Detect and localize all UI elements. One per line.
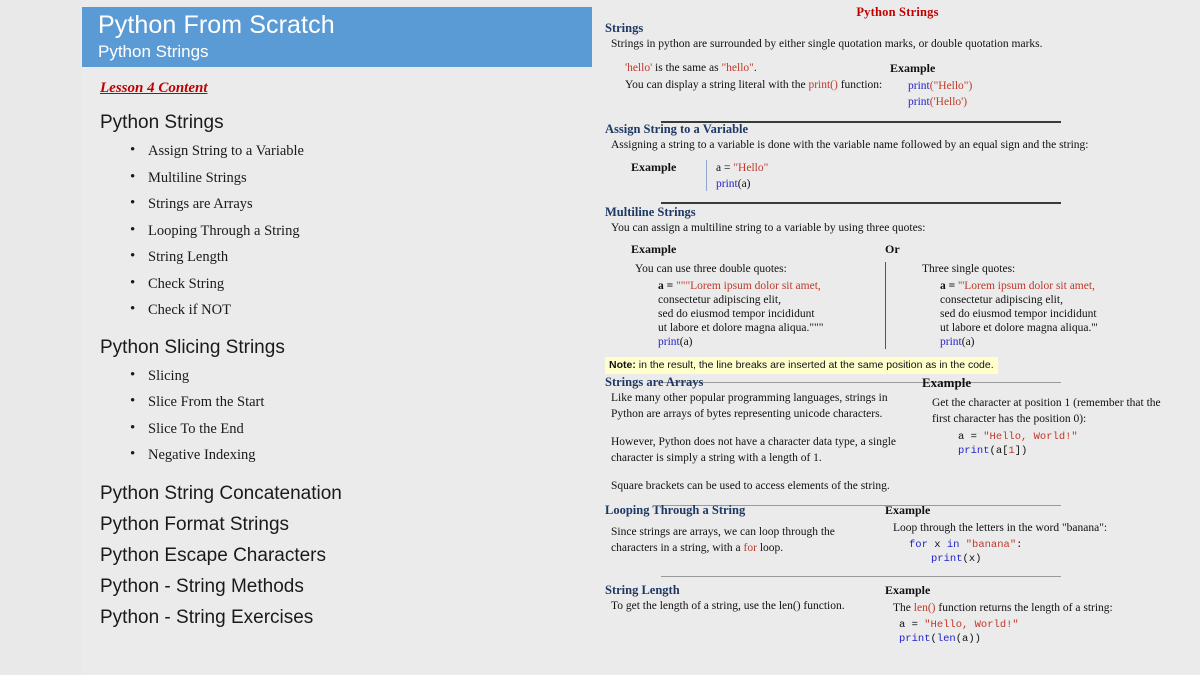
code-arg: (a)	[962, 336, 975, 348]
code-block: a = '''Lorem ipsum dolor sit amet, conse…	[922, 279, 1098, 349]
section-strings: Strings Strings in python are surrounded…	[595, 21, 1200, 123]
toc-heading[interactable]: Python String Concatenation	[82, 478, 592, 509]
section-intro: You can assign a multiline string to a v…	[595, 221, 1200, 236]
code-var: a =	[899, 619, 924, 631]
example-caption: The len() function returns the length of…	[885, 601, 1180, 616]
section-arrays: Strings are Arrays Like many other popul…	[595, 375, 1200, 506]
inline-text: You can display a string literal with th…	[625, 79, 808, 91]
inline-code-hello-double: "hello"	[721, 62, 753, 74]
example-label: Example	[885, 503, 1180, 518]
note-label: Note:	[609, 359, 636, 371]
code-var: x	[928, 539, 947, 551]
code-line: print('Hello')	[908, 95, 1120, 109]
multiline-left: You can use three double quotes: a = """…	[595, 262, 885, 350]
paragraph: Since strings are arrays, we can loop th…	[595, 525, 880, 556]
code-block: a = "Hello" print(a)	[706, 160, 768, 191]
example-label: Example	[885, 583, 1180, 598]
code-fn: print	[899, 633, 931, 645]
code-arg: (a))	[956, 633, 981, 645]
code-kw: for	[909, 539, 928, 551]
list-item[interactable]: String Length	[130, 244, 592, 271]
inline-text: loop.	[757, 542, 783, 554]
list-item[interactable]: Slice To the End	[130, 416, 592, 443]
table-of-contents: Python Strings Assign String to a Variab…	[82, 108, 592, 633]
spacer	[82, 469, 592, 478]
code-fn: print	[716, 178, 738, 190]
inline-text: function returns the length of a string:	[935, 602, 1112, 614]
code-fn: print	[931, 553, 963, 565]
example-label: Example	[595, 242, 885, 257]
code-caption: Three single quotes:	[922, 262, 1098, 277]
note-text: in the result, the line breaks are inser…	[636, 359, 994, 371]
spacer	[82, 324, 592, 333]
inline-text: The	[893, 602, 914, 614]
lesson-label: Lesson 4 Content	[100, 80, 208, 97]
code-line: a = "Hello, World!"	[958, 430, 1180, 444]
inline-code-hello-single: 'hello'	[625, 62, 652, 74]
section-divider	[661, 202, 1061, 204]
code-fn: print	[908, 96, 930, 108]
list-item[interactable]: Looping Through a String	[130, 218, 592, 245]
toc-heading[interactable]: Python - String Exercises	[82, 602, 592, 633]
section-multiline: Multiline Strings You can assign a multi…	[595, 205, 1200, 383]
multiline-right: Three single quotes: a = '''Lorem ipsum …	[885, 262, 1098, 350]
paragraph: Like many other popular programming lang…	[595, 391, 915, 422]
inline-code-len: len()	[914, 602, 936, 614]
list-item[interactable]: Check String	[130, 271, 592, 298]
code-line: print("Hello")	[908, 79, 1120, 93]
code-block: a = "Hello, World!" print(a[1])	[922, 430, 1180, 458]
toc-list: Slicing Slice From the Start Slice To th…	[82, 363, 592, 469]
toc-heading[interactable]: Python Slicing Strings	[82, 333, 592, 363]
document-panel: Python Strings Strings Strings in python…	[595, 0, 1200, 675]
code-line: consectetur adipiscing elit,	[658, 293, 885, 307]
example-label: Example	[922, 375, 1180, 391]
section-heading: Multiline Strings	[595, 205, 1200, 221]
toc-heading[interactable]: Python Format Strings	[82, 509, 592, 540]
code-fn: print	[658, 336, 680, 348]
code-arg: ("Hello")	[930, 80, 973, 92]
example-label: Example	[890, 61, 1120, 76]
code-line: ut labore et dolore magna aliqua.'''	[940, 321, 1098, 335]
code-var: a =	[658, 280, 676, 292]
toc-list: Assign String to a Variable Multiline St…	[82, 138, 592, 324]
code-line: a = """Lorem ipsum dolor sit amet,	[658, 279, 885, 293]
left-gutter	[0, 0, 82, 675]
section-intro: To get the length of a string, use the l…	[595, 599, 880, 614]
section-heading: Looping Through a String	[595, 503, 880, 519]
code-block: a = "Hello, World!" print(len(a))	[885, 618, 1180, 646]
section-heading: Assign String to a Variable	[595, 122, 1200, 138]
section-divider	[661, 576, 1061, 577]
code-var: a =	[940, 280, 958, 292]
code-kw: in	[947, 539, 960, 551]
code-str: "Hello, World!"	[983, 431, 1078, 443]
example-caption: Loop through the letters in the word "ba…	[885, 521, 1180, 536]
section-intro: Assigning a string to a variable is done…	[595, 138, 1200, 153]
code-arg: (x)	[963, 553, 982, 565]
slide-title-bar: Python From Scratch Python Strings	[82, 7, 592, 67]
list-item[interactable]: Assign String to a Variable	[130, 138, 592, 165]
code-str: "banana"	[959, 539, 1016, 551]
strings-line-2: You can display a string literal with th…	[625, 78, 890, 93]
code-arg: (a[	[990, 445, 1009, 457]
code-arg: ])	[1015, 445, 1028, 457]
code-str: """Lorem ipsum dolor sit amet,	[676, 280, 821, 292]
inline-text: .	[754, 62, 757, 74]
code-line: print(a)	[658, 335, 885, 349]
code-fn: print	[908, 80, 930, 92]
page-title: Python From Scratch	[98, 10, 592, 41]
or-label: Or	[885, 242, 900, 257]
code-fn: print	[958, 445, 990, 457]
code-line: consectetur adipiscing elit,	[940, 293, 1098, 307]
code-var: a =	[716, 162, 733, 174]
code-caption: You can use three double quotes:	[635, 262, 885, 277]
page-subtitle: Python Strings	[98, 41, 592, 63]
section-assign: Assign String to a Variable Assigning a …	[595, 122, 1200, 204]
code-line: print(x)	[909, 552, 1180, 566]
code-fn: len	[937, 633, 956, 645]
section-heading: String Length	[595, 583, 880, 599]
code-line: a = "Hello"	[716, 161, 768, 175]
inline-code-print: print()	[808, 79, 837, 91]
paragraph: However, Python does not have a characte…	[595, 435, 915, 466]
toc-heading[interactable]: Python Escape Characters	[82, 540, 592, 571]
code-punct: :	[1016, 539, 1022, 551]
list-item[interactable]: Multiline Strings	[130, 165, 592, 192]
code-var: a =	[958, 431, 983, 443]
strings-line-1: 'hello' is the same as "hello".	[625, 61, 890, 76]
paragraph: Square brackets can be used to access el…	[595, 479, 915, 495]
code-arg: (a)	[738, 178, 751, 190]
section-heading: Strings	[595, 21, 1200, 37]
list-item[interactable]: Slicing	[130, 363, 592, 390]
document-title: Python Strings	[595, 0, 1200, 20]
code-line: print(a[1])	[958, 444, 1180, 458]
section-intro: Strings in python are surrounded by eith…	[595, 37, 1200, 52]
section-length: String Length To get the length of a str…	[595, 583, 1200, 646]
code-block: print("Hello") print('Hello')	[890, 79, 1120, 109]
list-item[interactable]: Strings are Arrays	[130, 191, 592, 218]
code-fn: print	[940, 336, 962, 348]
toc-heading[interactable]: Python - String Methods	[82, 571, 592, 602]
code-line: ut labore et dolore magna aliqua."""	[658, 321, 885, 335]
example-caption: Get the character at position 1 (remembe…	[922, 396, 1180, 427]
note-callout: Note: in the result, the line breaks are…	[605, 357, 998, 374]
inline-text: Since strings are arrays, we can loop th…	[611, 526, 835, 554]
code-line: for x in "banana":	[909, 538, 1180, 552]
code-arg: ('Hello')	[930, 96, 967, 108]
example-label: Example	[631, 160, 706, 191]
inline-text: function:	[838, 79, 882, 91]
code-arg: (a)	[680, 336, 693, 348]
inline-text: is the same as	[652, 62, 721, 74]
section-heading: Strings are Arrays	[595, 375, 915, 391]
code-str: "Hello, World!"	[924, 619, 1019, 631]
code-str: "Hello"	[733, 162, 768, 174]
list-item[interactable]: Negative Indexing	[130, 442, 592, 469]
inline-code-for: for	[744, 542, 757, 554]
toc-heading[interactable]: Python Strings	[82, 108, 592, 138]
section-looping: Looping Through a String Since strings a…	[595, 503, 1200, 577]
code-block: a = """Lorem ipsum dolor sit amet, conse…	[635, 279, 885, 349]
code-str: '''Lorem ipsum dolor sit amet,	[958, 280, 1095, 292]
code-line: print(len(a))	[899, 632, 1180, 646]
slide-root: Python From Scratch Python Strings Lesso…	[0, 0, 1200, 675]
code-line: a = "Hello, World!"	[899, 618, 1180, 632]
code-line: print(a)	[940, 335, 1098, 349]
list-item[interactable]: Check if NOT	[130, 297, 592, 324]
code-line: sed do eiusmod tempor incididunt	[658, 307, 885, 321]
code-line: print(a)	[716, 177, 768, 191]
list-item[interactable]: Slice From the Start	[130, 389, 592, 416]
code-line: a = '''Lorem ipsum dolor sit amet,	[940, 279, 1098, 293]
code-block: for x in "banana": print(x)	[885, 538, 1180, 566]
left-panel: Python From Scratch Python Strings Lesso…	[82, 0, 595, 675]
code-line: sed do eiusmod tempor incididunt	[940, 307, 1098, 321]
